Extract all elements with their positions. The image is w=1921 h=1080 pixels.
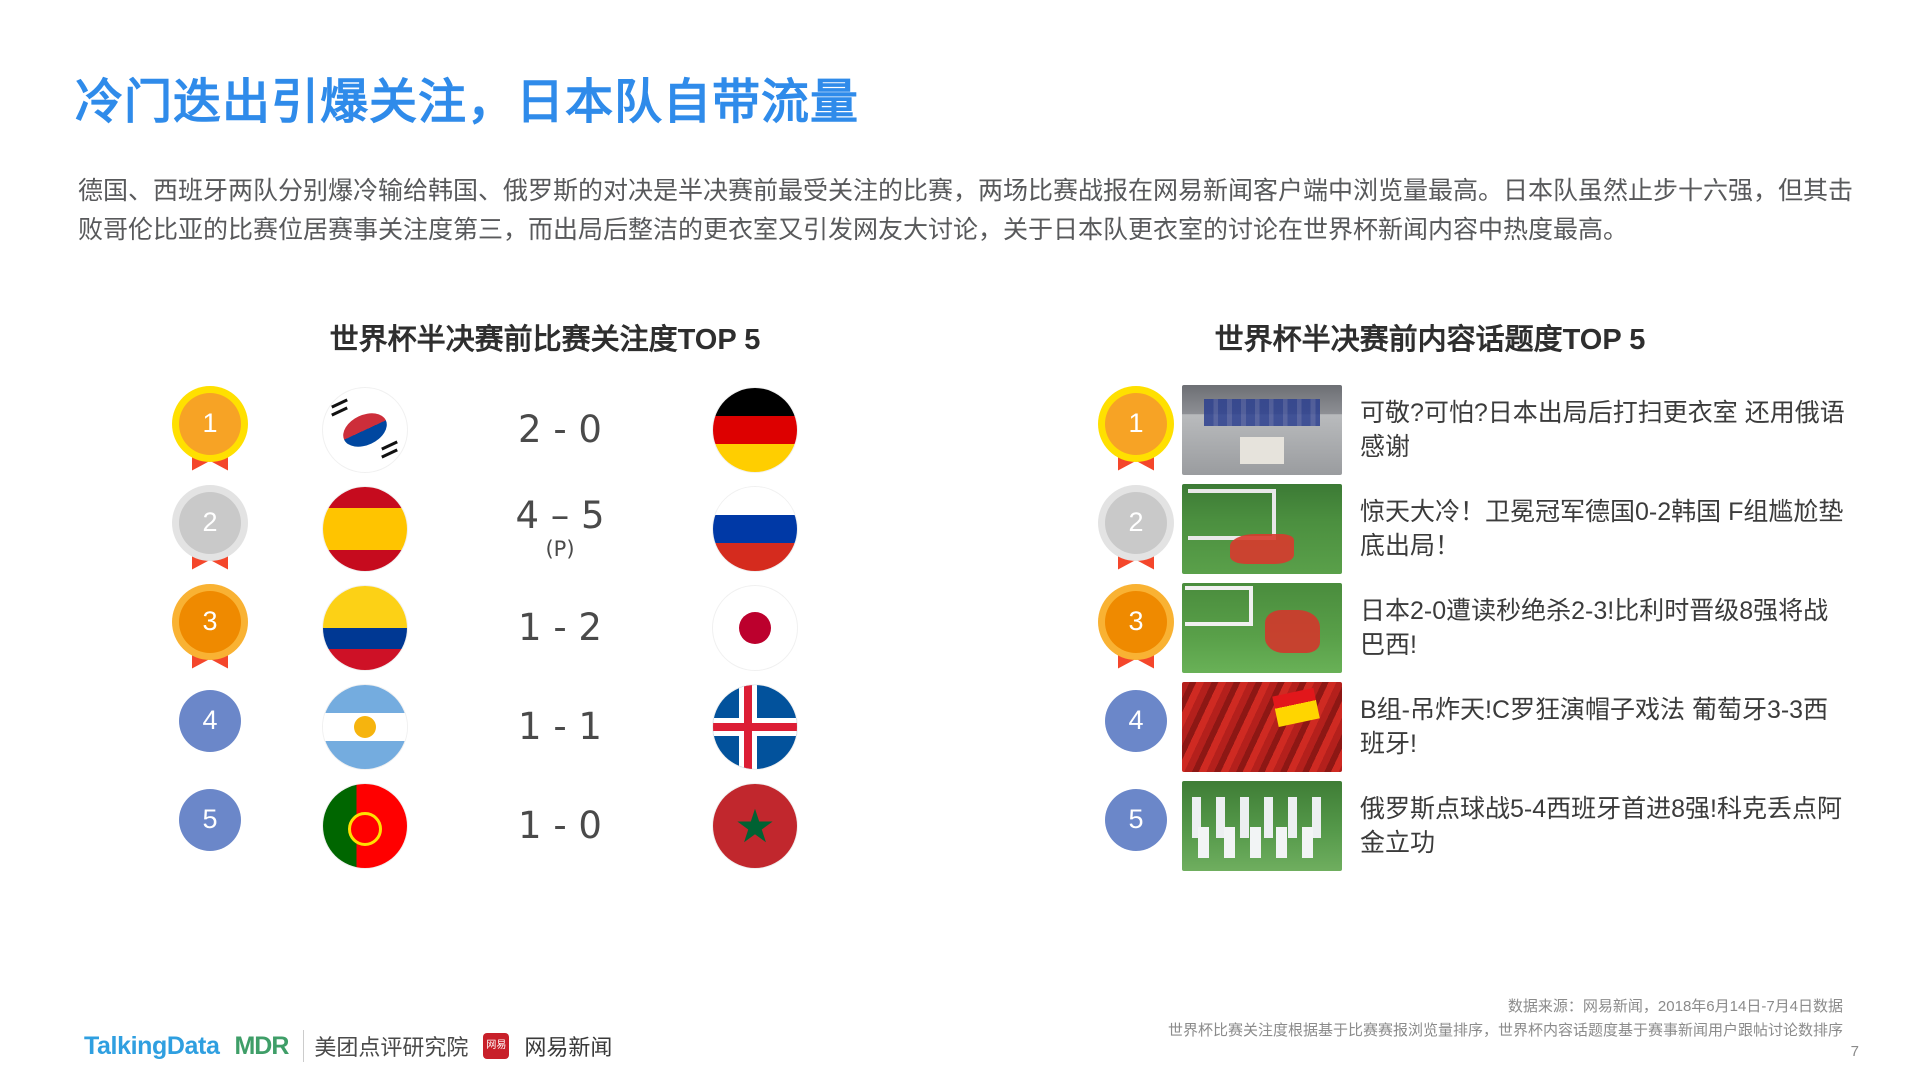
rank-cell: 4 (150, 690, 270, 764)
rank-number: 2 (179, 492, 241, 554)
page-number: 7 (1851, 1043, 1859, 1060)
rank-cell: 2 (150, 492, 270, 566)
news-thumbnail (1182, 682, 1342, 772)
rank-medal: 2 (1105, 492, 1167, 566)
wangyi-badge-icon: 网易 (483, 1033, 509, 1059)
rank-number: 5 (1105, 789, 1167, 851)
news-headline[interactable]: B组-吊炸天!C罗狂演帽子戏法 葡萄牙3-3西班牙! (1360, 693, 1850, 761)
score-text: 4 – 5 (515, 494, 604, 537)
score-cell: 1 - 1 (460, 707, 660, 747)
right-panel-heading: 世界杯半决赛前内容话题度TOP 5 (1020, 316, 1840, 358)
rank-medal: 1 (1105, 393, 1167, 467)
flag-russia-icon (713, 487, 797, 571)
flag-portugal-icon (323, 784, 407, 868)
home-flag-cell (270, 487, 460, 571)
rank-number: 2 (1105, 492, 1167, 554)
table-row: 1 2 - 0 (150, 380, 950, 479)
source-note: 数据来源：网易新闻，2018年6月14日-7月4日数据 世界杯比赛关注度根据基于… (1168, 995, 1843, 1043)
rank-medal: 3 (1105, 591, 1167, 665)
news-list: 1 可敬?可怕?日本出局后打扫更衣室 还用俄语感谢 2 惊天大冷！卫冕冠军德国0… (1090, 380, 1850, 875)
table-row: 3 1 - 2 (150, 578, 950, 677)
rank-medal: 5 (1105, 789, 1167, 863)
news-thumbnail (1182, 583, 1342, 673)
list-item[interactable]: 5 俄罗斯点球战5-4西班牙首进8强!科克丢点阿金立功 (1090, 776, 1850, 875)
flag-japan-icon (713, 586, 797, 670)
news-headline[interactable]: 可敬?可怕?日本出局后打扫更衣室 还用俄语感谢 (1360, 396, 1850, 464)
list-item[interactable]: 2 惊天大冷！卫冕冠军德国0-2韩国 F组尴尬垫底出局！ (1090, 479, 1850, 578)
rank-medal: 2 (179, 492, 241, 566)
intro-paragraph: 德国、西班牙两队分别爆冷输给韩国、俄罗斯的对决是半决赛前最受关注的比赛，两场比赛… (78, 172, 1853, 250)
score-text: 1 - 2 (518, 606, 602, 649)
flag-argentina-icon (323, 685, 407, 769)
score-text: 2 - 0 (518, 408, 602, 451)
table-row: 5 1 - 0 (150, 776, 950, 875)
rank-number: 1 (179, 393, 241, 455)
table-row: 2 4 – 5 (P) (150, 479, 950, 578)
news-headline[interactable]: 日本2-0遭读秒绝杀2-3!比利时晋级8强将战巴西! (1360, 594, 1850, 662)
rank-number: 5 (179, 789, 241, 851)
news-thumbnail (1182, 385, 1342, 475)
rank-cell: 3 (1090, 591, 1182, 665)
flag-morocco-icon (713, 784, 797, 868)
slide-root: 冷门迭出引爆关注，日本队自带流量 德国、西班牙两队分别爆冷输给韩国、俄罗斯的对决… (0, 0, 1921, 1080)
list-item[interactable]: 4 B组-吊炸天!C罗狂演帽子戏法 葡萄牙3-3西班牙! (1090, 677, 1850, 776)
home-flag-cell (270, 784, 460, 868)
rank-cell: 5 (150, 789, 270, 863)
source-line-1: 数据来源：网易新闻，2018年6月14日-7月4日数据 (1168, 995, 1843, 1019)
rank-cell: 5 (1090, 789, 1182, 863)
wangyi-news-logo: 网易新闻 (524, 1030, 612, 1062)
news-headline[interactable]: 惊天大冷！卫冕冠军德国0-2韩国 F组尴尬垫底出局！ (1360, 495, 1850, 563)
left-panel-heading: 世界杯半决赛前比赛关注度TOP 5 (150, 316, 940, 358)
rank-medal: 3 (179, 591, 241, 665)
list-item[interactable]: 3 日本2-0遭读秒绝杀2-3!比利时晋级8强将战巴西! (1090, 578, 1850, 677)
rank-cell: 4 (1090, 690, 1182, 764)
flag-germany-icon (713, 388, 797, 472)
rank-cell: 2 (1090, 492, 1182, 566)
away-flag-cell (660, 586, 850, 670)
score-cell: 4 – 5 (P) (460, 496, 660, 562)
score-cell: 2 - 0 (460, 410, 660, 450)
rank-cell: 1 (1090, 393, 1182, 467)
away-flag-cell (660, 487, 850, 571)
flag-iceland-icon (713, 685, 797, 769)
rank-medal: 1 (179, 393, 241, 467)
away-flag-cell (660, 388, 850, 472)
news-thumbnail (1182, 484, 1342, 574)
rank-number: 4 (1105, 690, 1167, 752)
mdr-logo: MDR (234, 1032, 288, 1061)
talkingdata-logo: TalkingData (84, 1032, 219, 1061)
table-row: 4 1 - 1 (150, 677, 950, 776)
home-flag-cell (270, 685, 460, 769)
away-flag-cell (660, 685, 850, 769)
score-text: 1 - 0 (518, 804, 602, 847)
rank-number: 4 (179, 690, 241, 752)
news-headline[interactable]: 俄罗斯点球战5-4西班牙首进8强!科克丢点阿金立功 (1360, 792, 1850, 860)
flag-colombia-icon (323, 586, 407, 670)
list-item[interactable]: 1 可敬?可怕?日本出局后打扫更衣室 还用俄语感谢 (1090, 380, 1850, 479)
score-cell: 1 - 0 (460, 806, 660, 846)
home-flag-cell (270, 586, 460, 670)
source-line-2: 世界杯比赛关注度根据基于比赛赛报浏览量排序，世界杯内容话题度基于赛事新闻用户跟帖… (1168, 1019, 1843, 1043)
rank-number: 1 (1105, 393, 1167, 455)
rank-number: 3 (179, 591, 241, 653)
rank-medal: 4 (179, 690, 241, 764)
footer-logos: TalkingData MDR 美团点评研究院 网易 网易新闻 (84, 1030, 612, 1062)
rank-medal: 4 (1105, 690, 1167, 764)
penalty-note: (P) (460, 536, 660, 562)
home-flag-cell (270, 388, 460, 472)
match-list: 1 2 - 0 2 (150, 380, 950, 875)
rank-cell: 1 (150, 393, 270, 467)
score-text: 1 - 1 (518, 705, 602, 748)
score-cell: 1 - 2 (460, 608, 660, 648)
flag-korea-icon (323, 388, 407, 472)
flag-spain-icon (323, 487, 407, 571)
rank-medal: 5 (179, 789, 241, 863)
meituan-research-logo: 美团点评研究院 (303, 1030, 468, 1062)
news-thumbnail (1182, 781, 1342, 871)
rank-number: 3 (1105, 591, 1167, 653)
away-flag-cell (660, 784, 850, 868)
page-title: 冷门迭出引爆关注，日本队自带流量 (75, 62, 859, 132)
rank-cell: 3 (150, 591, 270, 665)
